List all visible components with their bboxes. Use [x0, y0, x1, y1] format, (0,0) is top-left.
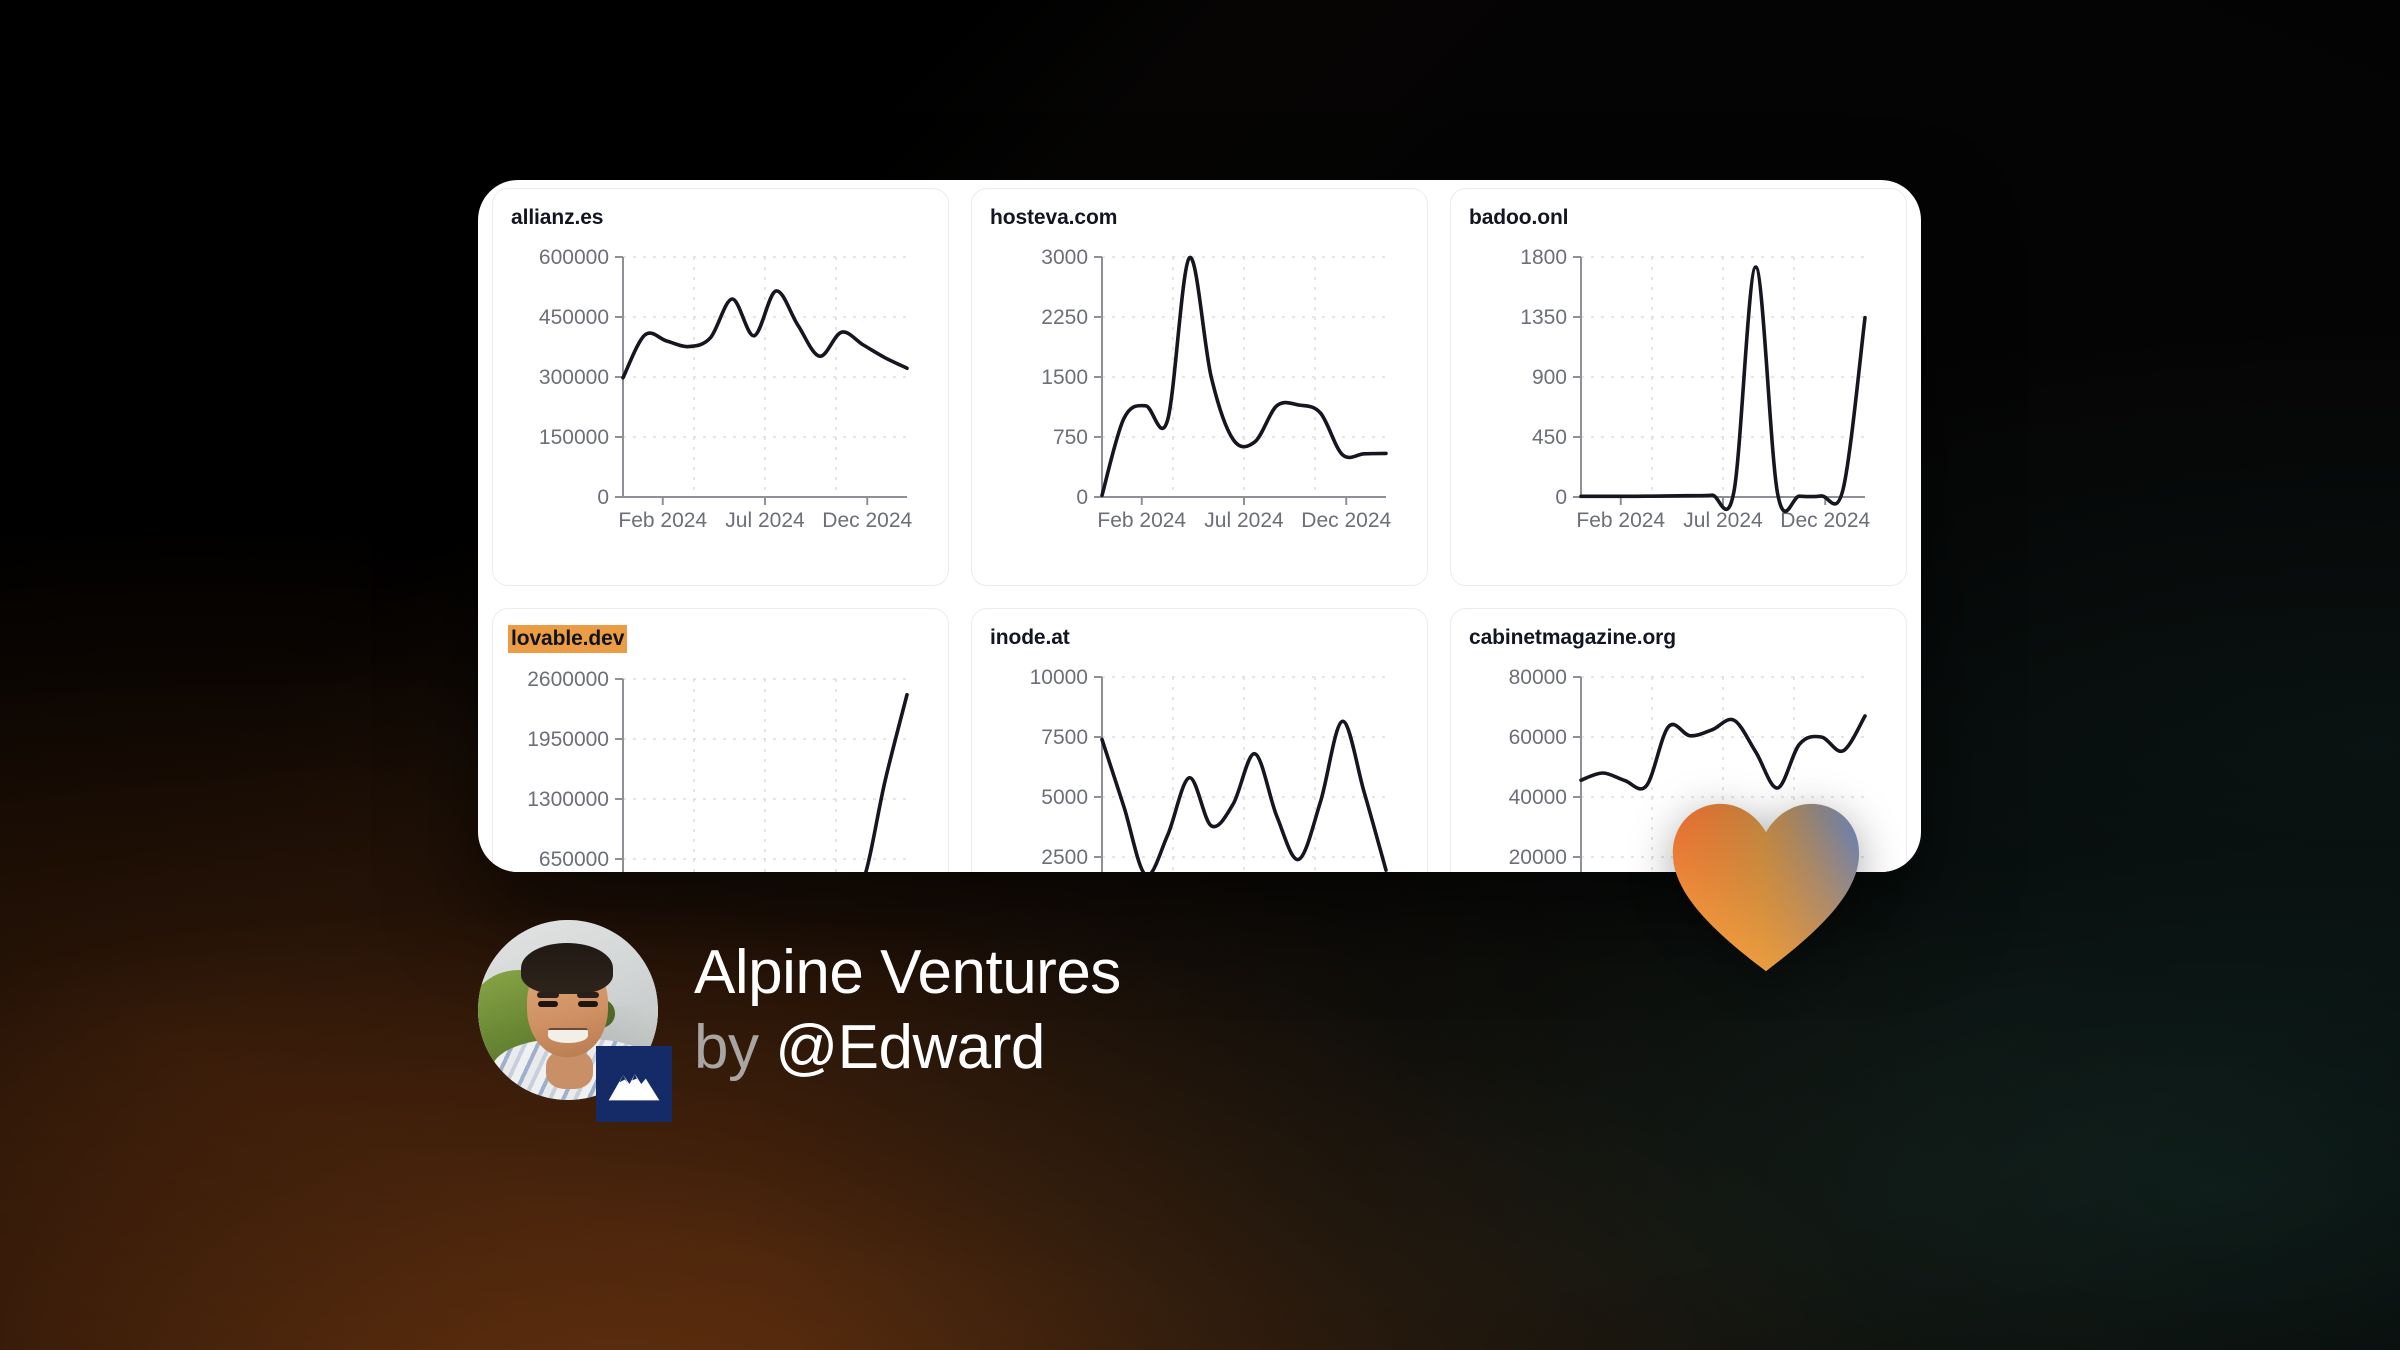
chart-plot: 0750150022503000Feb 2024Jul 2024Dec 2024 [990, 243, 1410, 543]
chart-plot: 25005000750010000 [990, 663, 1410, 872]
x-axis-tick-label: Dec 2024 [1780, 509, 1870, 532]
dashboard-card: allianz.es0150000300000450000600000Feb 2… [478, 180, 1921, 872]
chart-title: lovable.dev [508, 625, 627, 653]
x-axis-tick-label: Jul 2024 [1683, 509, 1763, 532]
avatar-eye-left [538, 1001, 558, 1007]
y-axis-tick-label: 0 [1076, 486, 1088, 509]
chart-title: allianz.es [511, 205, 603, 231]
chart-card[interactable]: lovable.dev650000130000019500002600000 [492, 608, 949, 872]
y-axis-tick-label: 750 [1053, 426, 1088, 449]
heart-icon[interactable] [1671, 800, 1861, 975]
y-axis-tick-label: 0 [597, 486, 609, 509]
y-axis-tick-label: 1800 [1520, 246, 1567, 269]
y-axis-tick-label: 1500 [1041, 366, 1088, 389]
y-axis-tick-label: 80000 [1509, 666, 1567, 689]
avatar-smile [548, 1028, 588, 1043]
y-axis-tick-label: 900 [1532, 366, 1567, 389]
x-axis-tick-label: Jul 2024 [725, 509, 805, 532]
y-axis-tick-label: 1300000 [527, 788, 609, 811]
y-axis-tick-label: 2250 [1041, 306, 1088, 329]
chart-plot: 0150000300000450000600000Feb 2024Jul 202… [511, 243, 931, 543]
byline-prefix: by [694, 1013, 758, 1082]
y-axis-tick-label: 2500 [1041, 846, 1088, 869]
y-axis-tick-label: 650000 [539, 848, 609, 871]
x-axis-tick-label: Dec 2024 [822, 509, 912, 532]
chart-card[interactable]: badoo.onl045090013501800Feb 2024Jul 2024… [1450, 188, 1907, 586]
chart-title: inode.at [990, 625, 1070, 651]
y-axis-tick-label: 1350 [1520, 306, 1567, 329]
byline: by @Edward [694, 1015, 1121, 1080]
avatar-eyebrow-right [577, 992, 599, 998]
chart-grid: allianz.es0150000300000450000600000Feb 2… [478, 180, 1921, 872]
footer-attribution: Alpine Ventures by @Edward [478, 920, 1121, 1100]
y-axis-tick-label: 20000 [1509, 846, 1567, 869]
avatar-eye-right [578, 1001, 598, 1007]
page-title: Alpine Ventures [694, 940, 1121, 1005]
mountain-logo-badge [596, 1046, 672, 1122]
avatar-eyebrow-left [537, 992, 559, 998]
chart-card[interactable]: allianz.es0150000300000450000600000Feb 2… [492, 188, 949, 586]
y-axis-tick-label: 600000 [539, 246, 609, 269]
y-axis-tick-label: 300000 [539, 366, 609, 389]
chart-title: badoo.onl [1469, 205, 1568, 231]
y-axis-tick-label: 450000 [539, 306, 609, 329]
chart-title: hosteva.com [990, 205, 1117, 231]
x-axis-tick-label: Feb 2024 [618, 509, 707, 532]
chart-plot: 045090013501800Feb 2024Jul 2024Dec 2024 [1469, 243, 1889, 543]
y-axis-tick-label: 2600000 [527, 668, 609, 691]
y-axis-tick-label: 150000 [539, 426, 609, 449]
byline-handle: @Edward [775, 1013, 1045, 1082]
chart-title: cabinetmagazine.org [1469, 625, 1676, 651]
mountain-icon [605, 1055, 663, 1113]
series-line [623, 291, 907, 378]
y-axis-tick-label: 0 [1555, 486, 1567, 509]
y-axis-tick-label: 60000 [1509, 726, 1567, 749]
x-axis-tick-label: Feb 2024 [1097, 509, 1186, 532]
footer-text-block: Alpine Ventures by @Edward [694, 940, 1121, 1080]
y-axis-tick-label: 3000 [1041, 246, 1088, 269]
screenshot-stage: allianz.es0150000300000450000600000Feb 2… [0, 0, 2400, 1350]
x-axis-tick-label: Dec 2024 [1301, 509, 1391, 532]
y-axis-tick-label: 5000 [1041, 786, 1088, 809]
y-axis-tick-label: 40000 [1509, 786, 1567, 809]
y-axis-tick-label: 450 [1532, 426, 1567, 449]
y-axis-tick-label: 10000 [1030, 666, 1088, 689]
x-axis-tick-label: Feb 2024 [1576, 509, 1665, 532]
chart-plot: 650000130000019500002600000 [511, 665, 931, 872]
avatar-wrapper [478, 920, 658, 1100]
avatar-hair [521, 943, 613, 993]
chart-card[interactable]: inode.at25005000750010000 [971, 608, 1428, 872]
y-axis-tick-label: 7500 [1041, 726, 1088, 749]
x-axis-tick-label: Jul 2024 [1204, 509, 1284, 532]
chart-card[interactable]: hosteva.com0750150022503000Feb 2024Jul 2… [971, 188, 1428, 586]
y-axis-tick-label: 1950000 [527, 728, 609, 751]
